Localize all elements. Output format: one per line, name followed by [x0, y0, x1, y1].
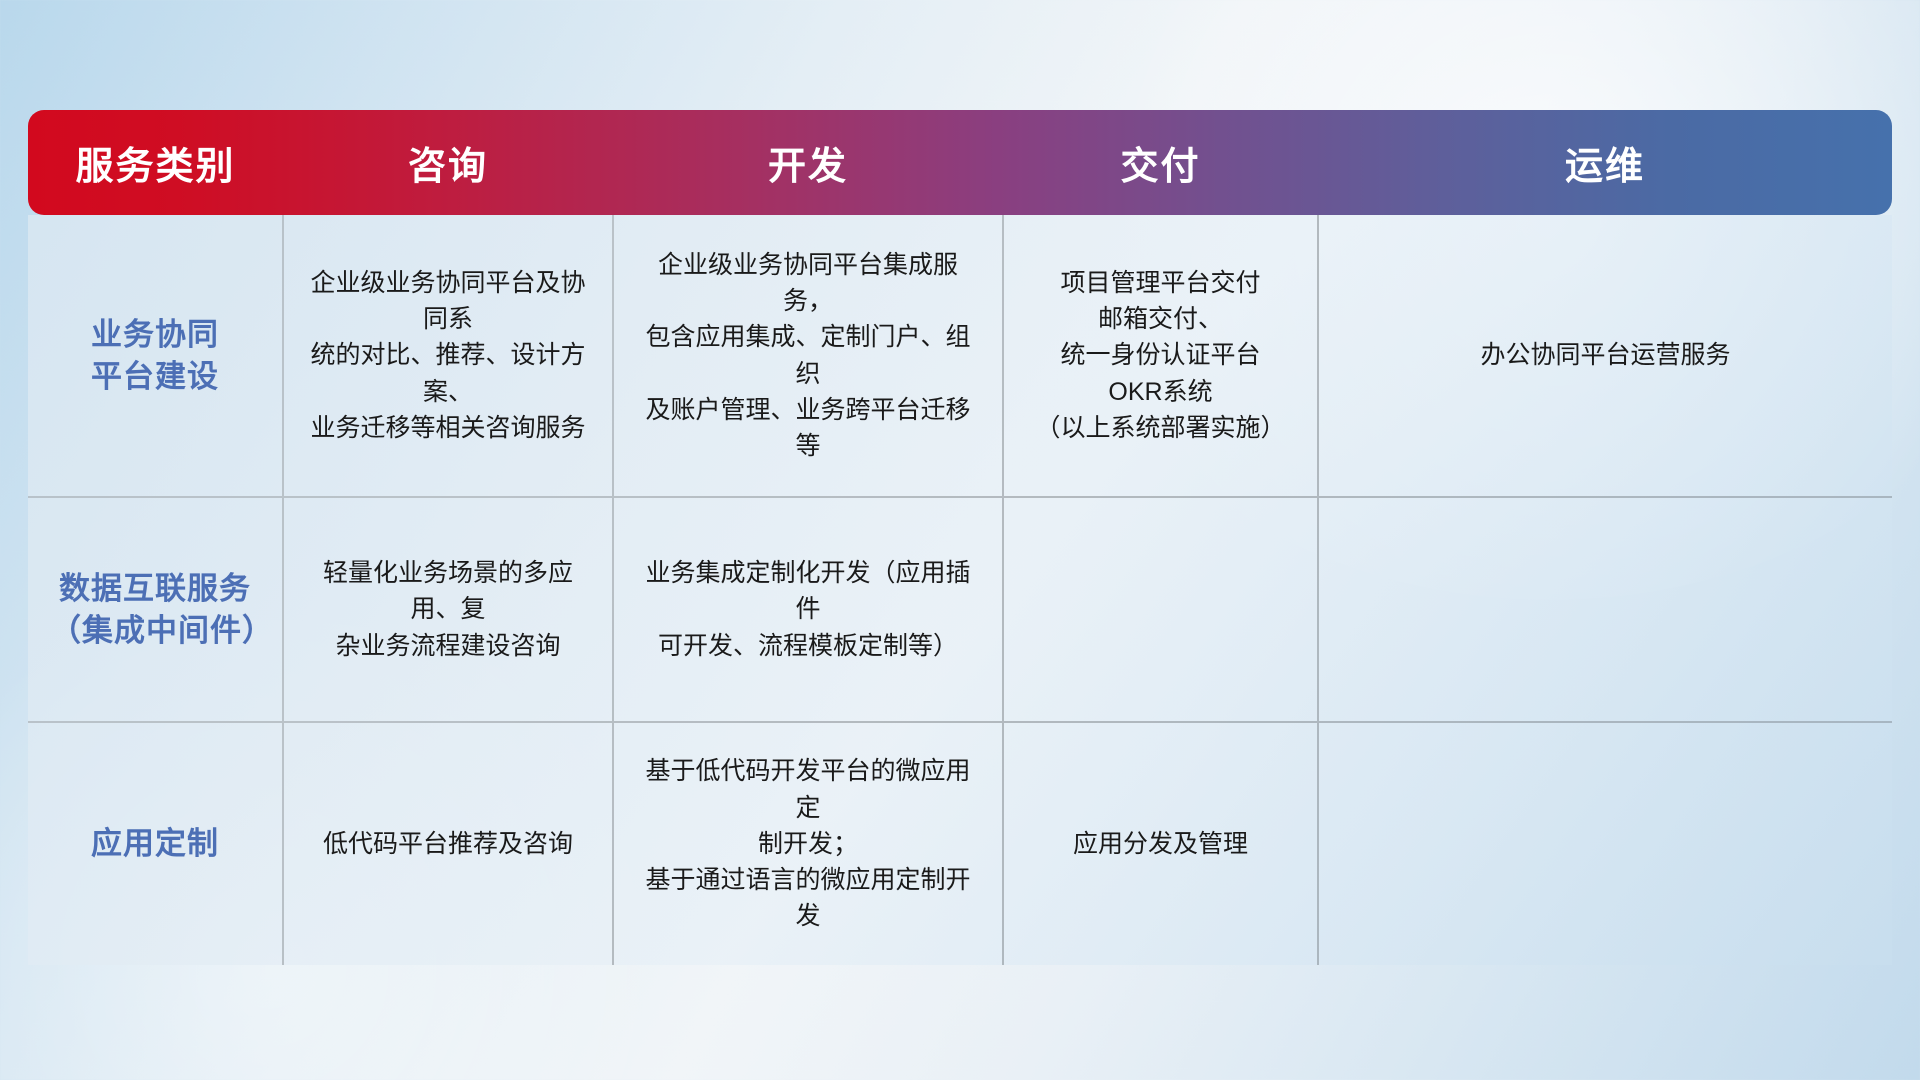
cell-development: 业务集成定制化开发（应用插件 可开发、流程模板定制等）	[613, 497, 1003, 722]
cell-delivery: 应用分发及管理	[1003, 722, 1318, 965]
cell-line: 可开发、流程模板定制等）	[636, 628, 980, 664]
category-line: （集成中间件）	[50, 610, 260, 652]
table-row: 业务协同 平台建设 企业级业务协同平台及协同系 统的对比、推荐、设计方案、 业务…	[28, 215, 1892, 497]
cell-delivery: 项目管理平台交付 邮箱交付、 统一身份认证平台 OKR系统 （以上系统部署实施）	[1003, 215, 1318, 497]
cell-development: 企业级业务协同平台集成服务， 包含应用集成、定制门户、组织 及账户管理、业务跨平…	[613, 215, 1003, 497]
column-header-development[interactable]: 开发	[613, 110, 1003, 215]
cell-consulting: 企业级业务协同平台及协同系 统的对比、推荐、设计方案、 业务迁移等相关咨询服务	[283, 215, 613, 497]
table-row: 数据互联服务 （集成中间件） 轻量化业务场景的多应用、复 杂业务流程建设咨询 业…	[28, 497, 1892, 722]
cell-line: 统一身份认证平台	[1026, 337, 1295, 373]
cell-line: 低代码平台推荐及咨询	[306, 826, 590, 862]
category-line: 业务协同	[50, 314, 260, 356]
table-head: 服务类别 咨询 开发 交付 运维	[28, 110, 1892, 215]
row-category-application-customization: 应用定制	[28, 722, 283, 965]
cell-line: 业务集成定制化开发（应用插件	[636, 555, 980, 628]
cell-line: 统的对比、推荐、设计方案、	[306, 337, 590, 410]
cell-line: OKR系统	[1026, 374, 1295, 410]
table-row: 应用定制 低代码平台推荐及咨询 基于低代码开发平台的微应用定 制开发； 基于通过…	[28, 722, 1892, 965]
cell-line: 企业级业务协同平台及协同系	[306, 265, 590, 338]
cell-line: 基于通过语言的微应用定制开发	[636, 862, 980, 935]
category-line: 平台建设	[50, 356, 260, 398]
cell-delivery-empty	[1003, 497, 1318, 722]
category-line: 应用定制	[50, 823, 260, 865]
cell-operations: 办公协同平台运营服务	[1318, 215, 1892, 497]
service-matrix-container: 服务类别 咨询 开发 交付 运维 业务协同 平台建设 企业级业务协同平台及协同系…	[28, 110, 1892, 965]
cell-consulting: 低代码平台推荐及咨询	[283, 722, 613, 965]
cell-line: 杂业务流程建设咨询	[306, 628, 590, 664]
cell-line: 办公协同平台运营服务	[1341, 337, 1870, 373]
table-body: 业务协同 平台建设 企业级业务协同平台及协同系 统的对比、推荐、设计方案、 业务…	[28, 215, 1892, 965]
cell-line: 包含应用集成、定制门户、组织	[636, 319, 980, 392]
column-header-service-category[interactable]: 服务类别	[28, 110, 283, 215]
cell-operations-empty	[1318, 497, 1892, 722]
cell-consulting: 轻量化业务场景的多应用、复 杂业务流程建设咨询	[283, 497, 613, 722]
cell-line: 企业级业务协同平台集成服务，	[636, 247, 980, 320]
cell-line: （以上系统部署实施）	[1026, 410, 1295, 446]
cell-line: 应用分发及管理	[1026, 826, 1295, 862]
column-header-delivery[interactable]: 交付	[1003, 110, 1318, 215]
column-header-operations[interactable]: 运维	[1318, 110, 1892, 215]
column-header-consulting[interactable]: 咨询	[283, 110, 613, 215]
row-category-business-collaboration-platform: 业务协同 平台建设	[28, 215, 283, 497]
cell-line: 项目管理平台交付	[1026, 265, 1295, 301]
cell-operations-empty	[1318, 722, 1892, 965]
cell-line: 邮箱交付、	[1026, 301, 1295, 337]
cell-development: 基于低代码开发平台的微应用定 制开发； 基于通过语言的微应用定制开发	[613, 722, 1003, 965]
service-matrix-table: 服务类别 咨询 开发 交付 运维 业务协同 平台建设 企业级业务协同平台及协同系…	[28, 110, 1892, 965]
cell-line: 及账户管理、业务跨平台迁移等	[636, 392, 980, 465]
row-category-data-interconnection-service: 数据互联服务 （集成中间件）	[28, 497, 283, 722]
table-header-row: 服务类别 咨询 开发 交付 运维	[28, 110, 1892, 215]
cell-line: 业务迁移等相关咨询服务	[306, 410, 590, 446]
cell-line: 轻量化业务场景的多应用、复	[306, 555, 590, 628]
cell-line: 制开发；	[636, 826, 980, 862]
category-line: 数据互联服务	[50, 568, 260, 610]
cell-line: 基于低代码开发平台的微应用定	[636, 753, 980, 826]
